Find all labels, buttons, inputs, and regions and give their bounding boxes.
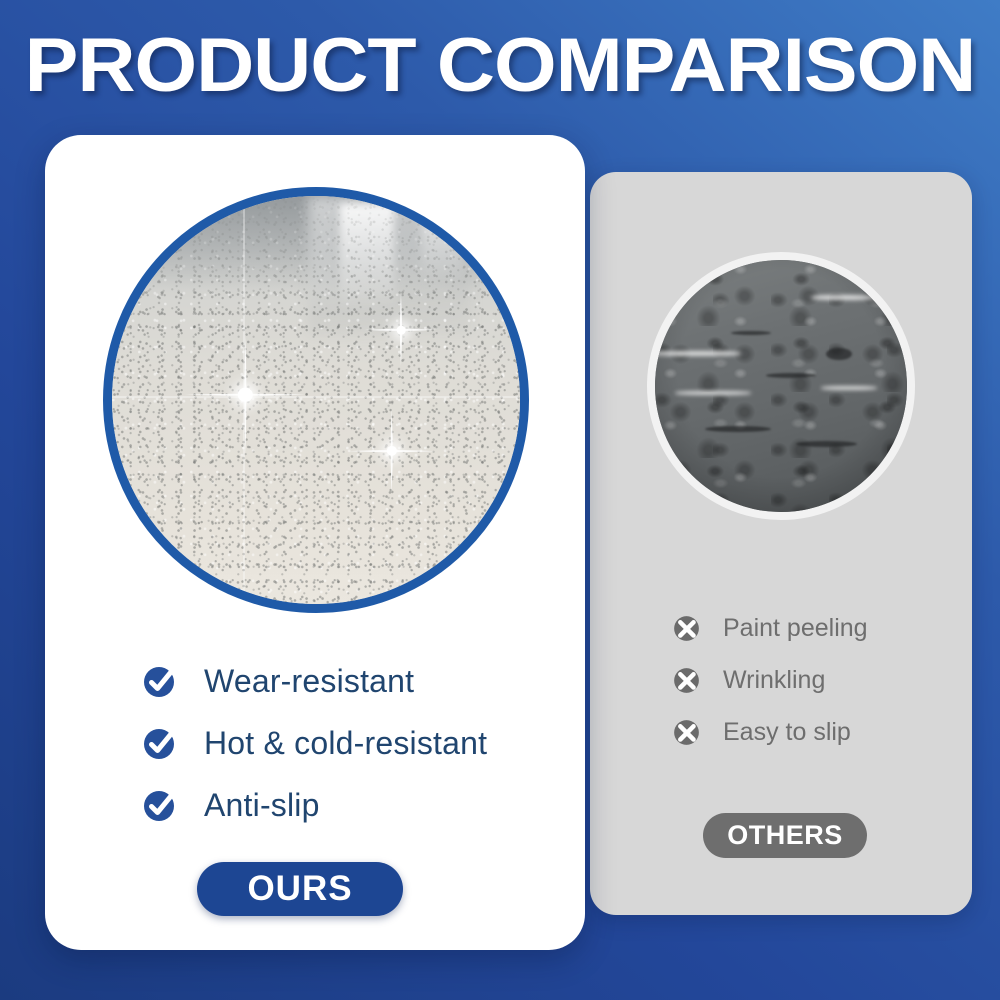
ours-card: Wear-resistant Hot & cold-resistant <box>45 135 585 950</box>
ours-photo <box>103 187 529 613</box>
list-item-label: Anti-slip <box>204 787 320 824</box>
check-circle-icon <box>140 785 180 825</box>
ours-floor-grout-line <box>112 396 520 398</box>
list-item-label: Wear-resistant <box>204 663 414 700</box>
list-item-label: Easy to slip <box>723 718 851 747</box>
others-photo <box>647 252 915 520</box>
ours-floor-grout-line <box>243 196 245 604</box>
ours-badge: OURS <box>197 862 403 916</box>
list-item-label: Hot & cold-resistant <box>204 725 487 762</box>
others-card: Paint peeling Wrinkling <box>590 172 972 915</box>
list-item: Easy to slip <box>670 706 960 758</box>
list-item: Paint peeling <box>670 602 960 654</box>
ours-badge-label: OURS <box>247 869 352 909</box>
others-badge: OTHERS <box>703 813 867 858</box>
list-item-label: Paint peeling <box>723 614 868 643</box>
list-item: Hot & cold-resistant <box>140 712 580 774</box>
others-badge-label: OTHERS <box>727 820 843 851</box>
x-circle-icon <box>670 612 703 645</box>
list-item-label: Wrinkling <box>723 666 825 695</box>
list-item: Wear-resistant <box>140 650 580 712</box>
x-circle-icon <box>670 716 703 749</box>
product-comparison-poster: PRODUCT COMPARISON <box>0 0 1000 1000</box>
page-title: PRODUCT COMPARISON <box>0 28 1000 104</box>
others-photo-vignette <box>655 260 907 512</box>
check-circle-icon <box>140 661 180 701</box>
x-circle-icon <box>670 664 703 697</box>
check-circle-icon <box>140 723 180 763</box>
ours-feature-list: Wear-resistant Hot & cold-resistant <box>140 650 580 836</box>
list-item: Anti-slip <box>140 774 580 836</box>
list-item: Wrinkling <box>670 654 960 706</box>
ours-floor-speckle-texture <box>112 196 520 604</box>
others-issue-list: Paint peeling Wrinkling <box>670 602 960 758</box>
